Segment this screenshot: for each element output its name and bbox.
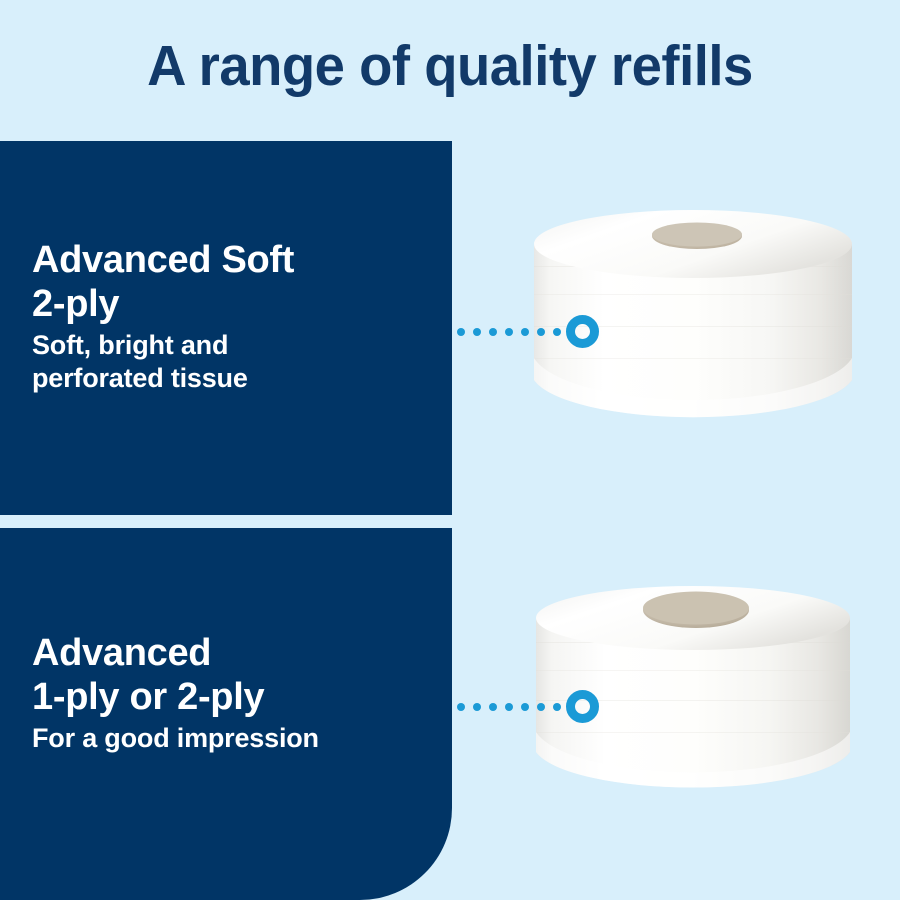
product-subtitle-2: For a good impression xyxy=(32,722,319,755)
dotted-line-icon xyxy=(489,328,497,336)
dotted-line-icon xyxy=(489,703,497,711)
dotted-line-icon xyxy=(553,328,561,336)
dotted-line-icon xyxy=(457,328,465,336)
dotted-line-icon xyxy=(473,328,481,336)
product-text-block-1: Advanced Soft 2-ply Soft, bright and per… xyxy=(32,238,294,395)
dotted-line-icon xyxy=(505,328,513,336)
dotted-connector-2 xyxy=(457,703,567,711)
dotted-line-icon xyxy=(473,703,481,711)
dotted-connector-1 xyxy=(457,328,567,336)
product-subtitle-1: Soft, bright and perforated tissue xyxy=(32,329,294,395)
dotted-line-icon xyxy=(457,703,465,711)
product-heading-1: Advanced Soft 2-ply xyxy=(32,238,294,326)
dotted-line-icon xyxy=(505,703,513,711)
product-heading-2: Advanced 1-ply or 2-ply xyxy=(32,631,319,719)
ring-marker-icon-2 xyxy=(566,690,599,723)
page-title: A range of quality refills xyxy=(20,36,880,98)
dotted-line-icon xyxy=(537,703,545,711)
dotted-line-icon xyxy=(521,703,529,711)
product-text-block-2: Advanced 1-ply or 2-ply For a good impre… xyxy=(32,631,319,755)
promotional-graphic: A range of quality refills Advanced Soft… xyxy=(0,0,900,900)
dotted-line-icon xyxy=(553,703,561,711)
dotted-line-icon xyxy=(537,328,545,336)
ring-marker-icon-1 xyxy=(566,315,599,348)
dotted-line-icon xyxy=(521,328,529,336)
